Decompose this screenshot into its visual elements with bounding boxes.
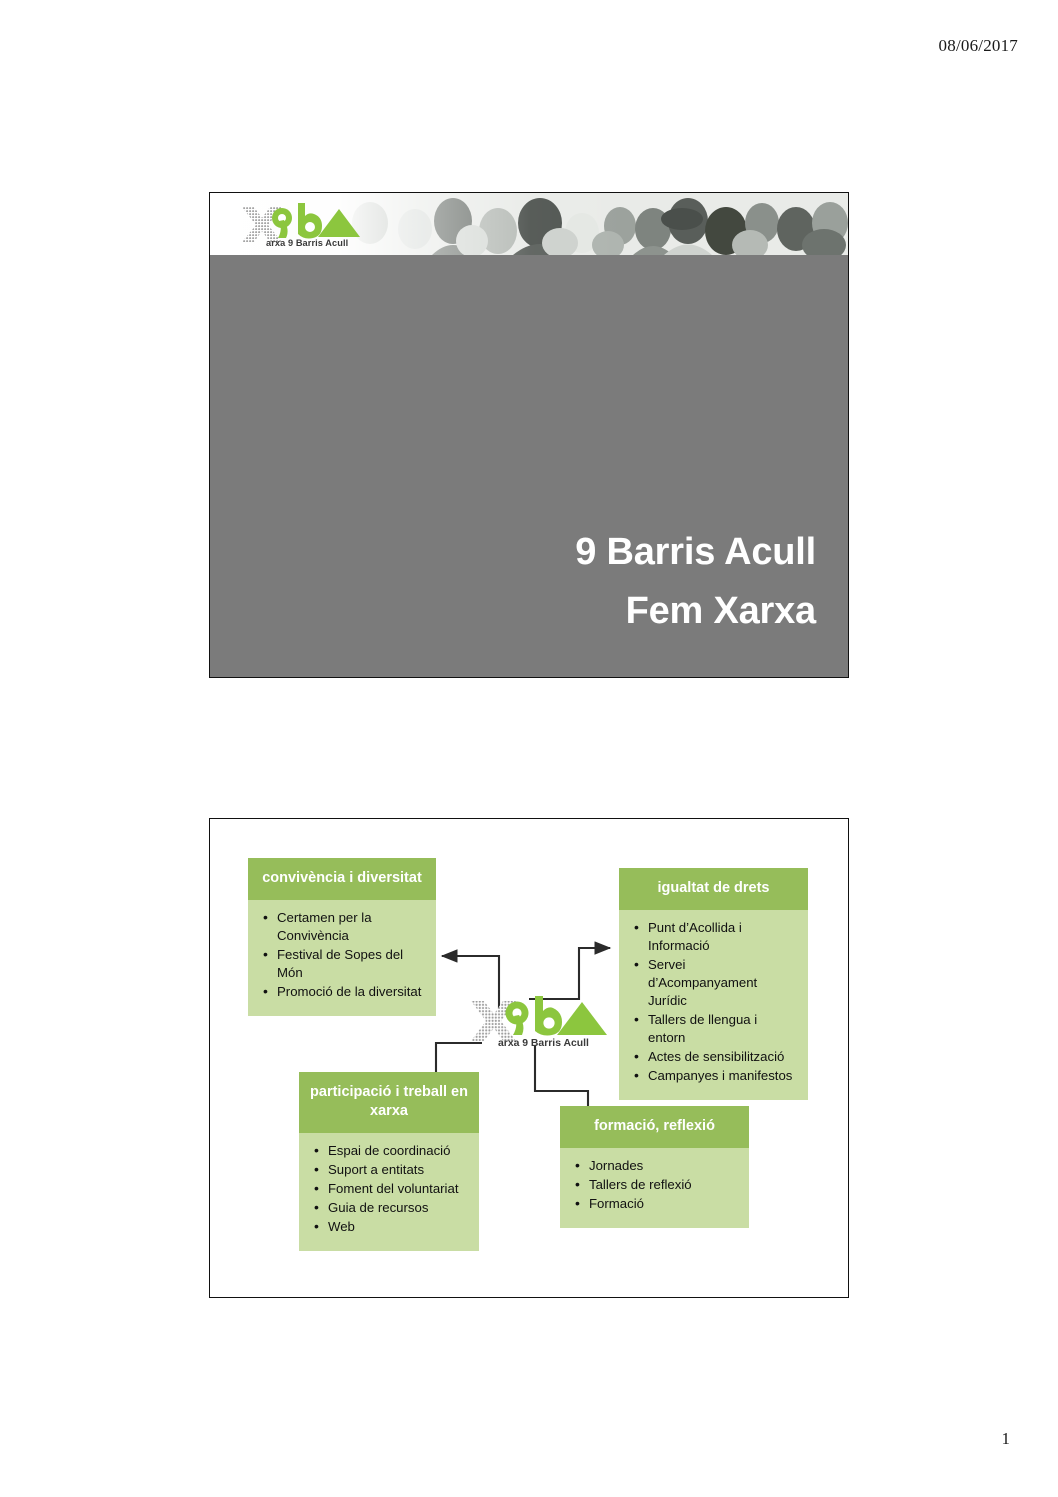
center-logo-9b-mark [506, 996, 563, 1036]
box-convivencia-title: convivència i diversitat [248, 858, 436, 900]
list-item: Tallers de llengua i entorn [646, 1011, 798, 1047]
list-item: Actes de sensibilització [646, 1048, 798, 1066]
list-item: Tallers de reflexió [587, 1176, 739, 1194]
box-igualtat-body: Punt d’Acollida i Informació Servei d’Ac… [619, 910, 808, 1100]
slide-1-title: 9 Barris Acull Fem Xarxa [575, 523, 816, 641]
box-formacio-title: formació, reflexió [560, 1106, 749, 1148]
slide-1-title-line-1: 9 Barris Acull [575, 523, 816, 582]
list-item: Formació [587, 1195, 739, 1213]
box-participacio-body: Espai de coordinació Suport a entitats F… [299, 1133, 479, 1251]
list-item: Web [326, 1218, 469, 1236]
slide-2: arxa 9 Barris Acull convivència i divers… [209, 818, 849, 1298]
list-item: Campanyes i manifestos [646, 1067, 798, 1085]
list-item: Festival de Sopes del Món [275, 946, 426, 982]
box-convivencia-body: Certamen per la Convivència Festival de … [248, 900, 436, 1016]
box-participacio-i-treball-en-xarxa[interactable]: participació i treball en xarxa Espai de… [299, 1072, 479, 1251]
logo-svg: arxa 9 Barris Acull [240, 201, 362, 249]
list-item: Foment del voluntariat [326, 1180, 469, 1198]
network-diagram: arxa 9 Barris Acull convivència i divers… [210, 819, 848, 1297]
box-igualtat-de-drets[interactable]: igualtat de drets Punt d’Acollida i Info… [619, 868, 808, 1100]
list-item: Suport a entitats [326, 1161, 469, 1179]
center-logo-triangle-mark [557, 1002, 607, 1035]
page-date: 08/06/2017 [939, 36, 1018, 56]
slide-1-title-line-2: Fem Xarxa [575, 582, 816, 641]
logo-wordmark-text: arxa 9 Barris Acull [266, 238, 348, 248]
logo-xarxa-9-barris-acull: arxa 9 Barris Acull [240, 201, 362, 249]
box-formacio-body: Jornades Tallers de reflexió Formació [560, 1148, 749, 1228]
list-item: Promoció de la diversitat [275, 983, 426, 1001]
page-number: 1 [1002, 1429, 1011, 1449]
list-item: Servei d’Acompanyament Jurídic [646, 956, 798, 1010]
list-item: Certamen per la Convivència [275, 909, 426, 945]
slide-1-header-band: arxa 9 Barris Acull [210, 193, 848, 255]
box-convivencia-i-diversitat[interactable]: convivència i diversitat Certamen per la… [248, 858, 436, 1016]
logo-triangle-mark [318, 209, 360, 237]
center-logo-svg: arxa 9 Barris Acull [469, 994, 609, 1050]
center-logo-xarxa-9-barris-acull: arxa 9 Barris Acull [469, 994, 609, 1050]
list-item: Punt d’Acollida i Informació [646, 919, 798, 955]
list-item: Guia de recursos [326, 1199, 469, 1217]
center-logo-wordmark-text: arxa 9 Barris Acull [498, 1038, 589, 1049]
slide-1: arxa 9 Barris Acull 9 Barris Acull Fem X… [209, 192, 849, 678]
box-participacio-title: participació i treball en xarxa [299, 1072, 479, 1133]
box-igualtat-title: igualtat de drets [619, 868, 808, 910]
arrow-to-igualtat [529, 948, 610, 999]
list-item: Espai de coordinació [326, 1142, 469, 1160]
list-item: Jornades [587, 1157, 739, 1175]
slide-1-body: 9 Barris Acull Fem Xarxa [210, 255, 848, 677]
box-formacio-reflexio[interactable]: formació, reflexió Jornades Tallers de r… [560, 1106, 749, 1228]
logo-9b-mark [272, 203, 322, 239]
